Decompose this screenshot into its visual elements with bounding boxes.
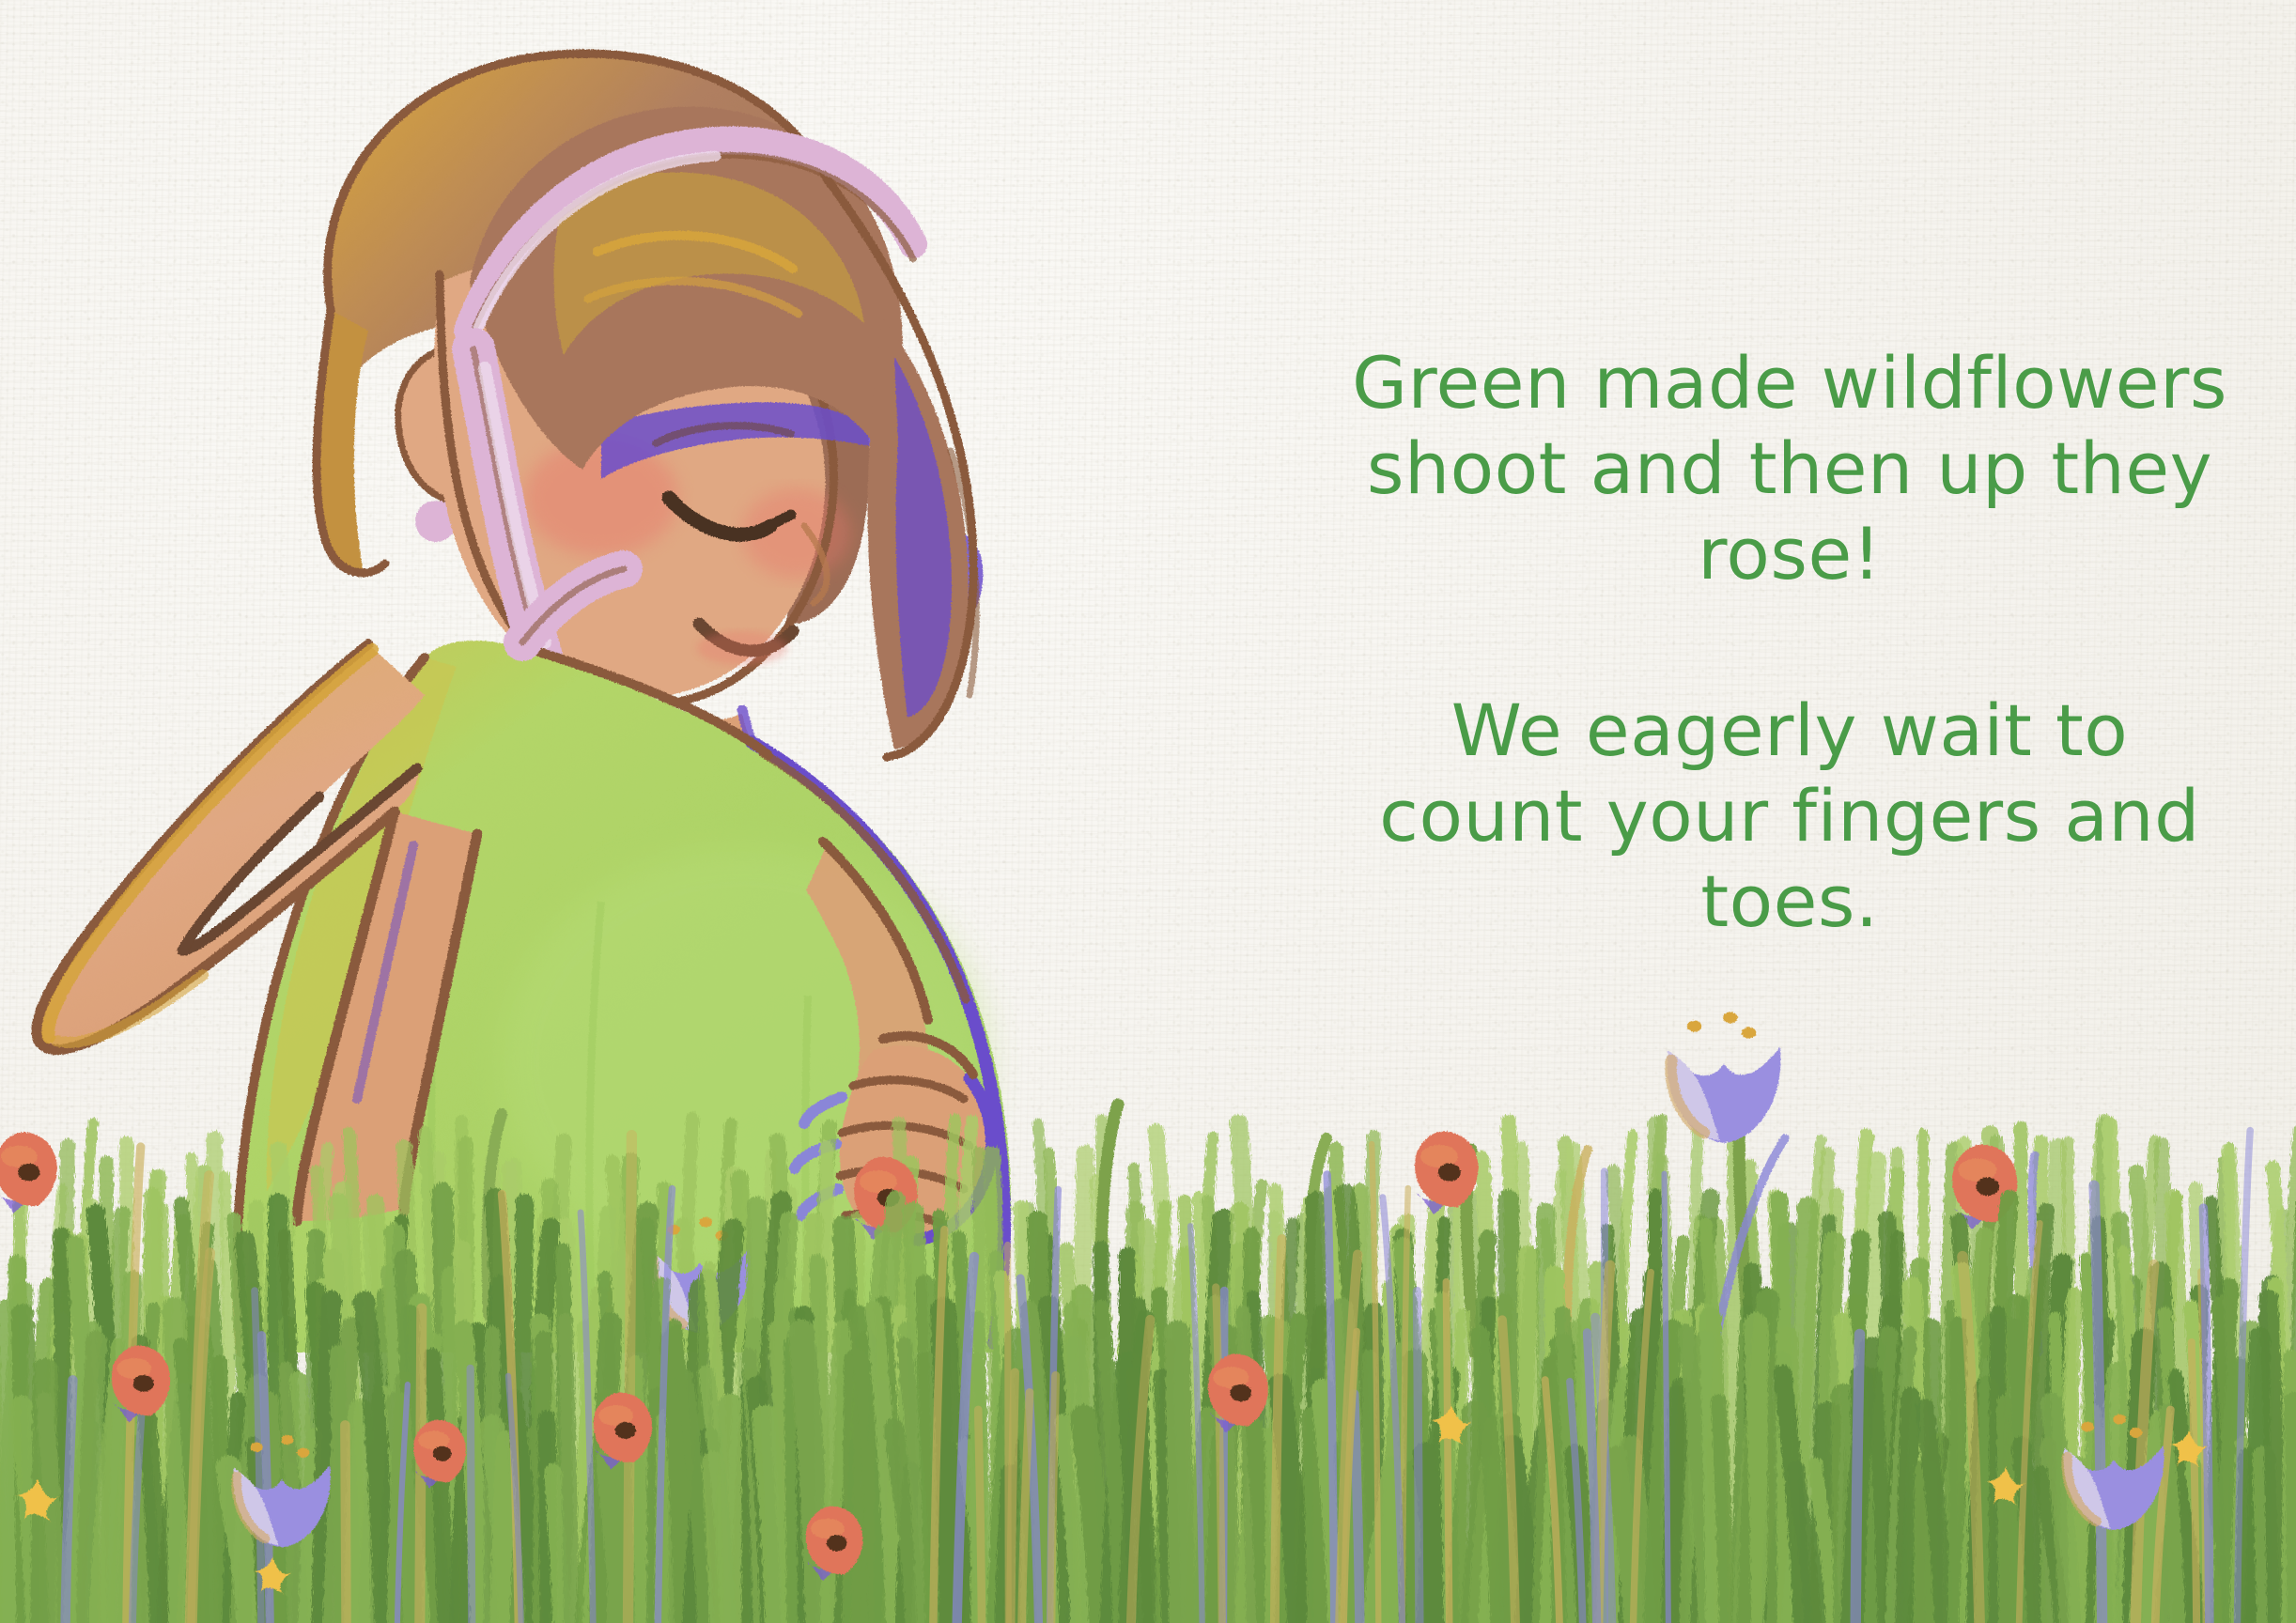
verse-line: rose! bbox=[1315, 511, 2264, 596]
storybook-page: Green made wildflowers shoot and then up… bbox=[0, 0, 2296, 1623]
stanza-spacer bbox=[1315, 597, 2264, 688]
verse-line: shoot and then up they bbox=[1315, 425, 2264, 511]
verse-stanza-2: We eagerly wait to count your fingers an… bbox=[1315, 688, 2264, 945]
verse-line: toes. bbox=[1315, 858, 2264, 944]
verse-line: Green made wildflowers bbox=[1315, 340, 2264, 425]
verse-stanza-1: Green made wildflowers shoot and then up… bbox=[1315, 340, 2264, 597]
verse-text-block: Green made wildflowers shoot and then up… bbox=[1315, 340, 2264, 944]
verse-line: We eagerly wait to bbox=[1315, 688, 2264, 773]
character-expectant-mother bbox=[37, 54, 1011, 1352]
verse-line: count your fingers and bbox=[1315, 773, 2264, 858]
